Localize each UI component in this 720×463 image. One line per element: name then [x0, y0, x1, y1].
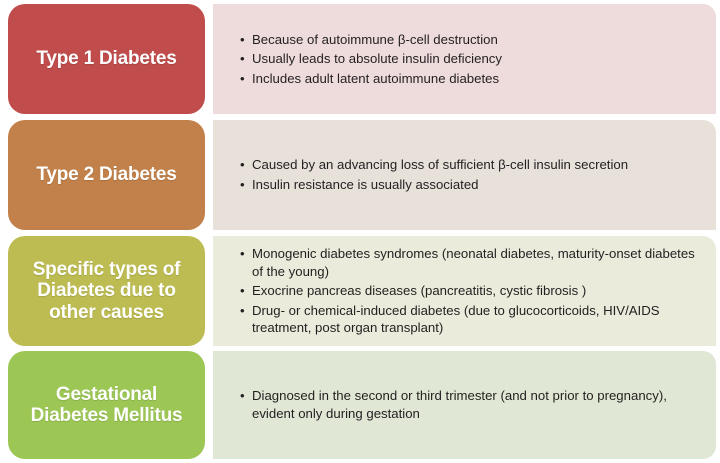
category-box-gestational-diabetes: Gestational Diabetes Mellitus	[8, 351, 205, 459]
bullet-text: Diagnosed in the second or third trimest…	[252, 388, 667, 421]
list-item: •Monogenic diabetes syndromes (neonatal …	[239, 245, 700, 280]
bullet-icon: •	[240, 156, 245, 174]
bullet-icon: •	[240, 302, 245, 320]
bullet-list: •Caused by an advancing loss of sufficie…	[239, 156, 700, 193]
category-box-specific-types: Specific types of Diabetes due to other …	[8, 236, 205, 346]
bullet-icon: •	[240, 282, 245, 300]
bullet-list: •Because of autoimmune β-cell destructio…	[239, 31, 700, 88]
bullet-text: Exocrine pancreas diseases (pancreatitis…	[252, 283, 586, 298]
description-panel-type-2-diabetes: •Caused by an advancing loss of sufficie…	[213, 120, 716, 230]
bullet-icon: •	[240, 70, 245, 88]
description-panel-specific-types: •Monogenic diabetes syndromes (neonatal …	[213, 236, 716, 346]
diagram-row: Type 1 Diabetes •Because of autoimmune β…	[0, 4, 720, 114]
list-item: •Includes adult latent autoimmune diabet…	[239, 70, 700, 88]
bullet-icon: •	[240, 176, 245, 194]
category-box-type-1-diabetes: Type 1 Diabetes	[8, 4, 205, 114]
bullet-text: Because of autoimmune β-cell destruction	[252, 32, 498, 47]
list-item: •Exocrine pancreas diseases (pancreatiti…	[239, 282, 700, 300]
category-label: Type 2 Diabetes	[36, 164, 176, 185]
list-item: •Caused by an advancing loss of sufficie…	[239, 156, 700, 174]
bullet-icon: •	[240, 245, 245, 263]
bullet-list: •Monogenic diabetes syndromes (neonatal …	[239, 245, 700, 337]
description-panel-gestational-diabetes: •Diagnosed in the second or third trimes…	[213, 351, 716, 459]
bullet-text: Monogenic diabetes syndromes (neonatal d…	[252, 246, 695, 279]
list-item: •Drug- or chemical-induced diabetes (due…	[239, 302, 700, 337]
category-label: Gestational Diabetes Mellitus	[18, 384, 195, 427]
list-item: •Usually leads to absolute insulin defic…	[239, 50, 700, 68]
list-item: •Diagnosed in the second or third trimes…	[239, 387, 700, 422]
diabetes-classification-diagram: Type 1 Diabetes •Because of autoimmune β…	[0, 0, 720, 463]
bullet-text: Drug- or chemical-induced diabetes (due …	[252, 303, 660, 336]
diagram-row: Gestational Diabetes Mellitus •Diagnosed…	[0, 351, 720, 459]
bullet-text: Insulin resistance is usually associated	[252, 177, 479, 192]
bullet-icon: •	[240, 387, 245, 405]
description-panel-type-1-diabetes: •Because of autoimmune β-cell destructio…	[213, 4, 716, 114]
bullet-text: Includes adult latent autoimmune diabete…	[252, 71, 499, 86]
list-item: •Because of autoimmune β-cell destructio…	[239, 31, 700, 49]
bullet-text: Usually leads to absolute insulin defici…	[252, 51, 502, 66]
category-label: Specific types of Diabetes due to other …	[18, 259, 195, 323]
list-item: •Insulin resistance is usually associate…	[239, 176, 700, 194]
category-label: Type 1 Diabetes	[36, 48, 176, 69]
diagram-row: Type 2 Diabetes •Caused by an advancing …	[0, 120, 720, 230]
bullet-icon: •	[240, 31, 245, 49]
bullet-list: •Diagnosed in the second or third trimes…	[239, 387, 700, 422]
bullet-icon: •	[240, 50, 245, 68]
bullet-text: Caused by an advancing loss of sufficien…	[252, 157, 628, 172]
category-box-type-2-diabetes: Type 2 Diabetes	[8, 120, 205, 230]
diagram-row: Specific types of Diabetes due to other …	[0, 236, 720, 346]
